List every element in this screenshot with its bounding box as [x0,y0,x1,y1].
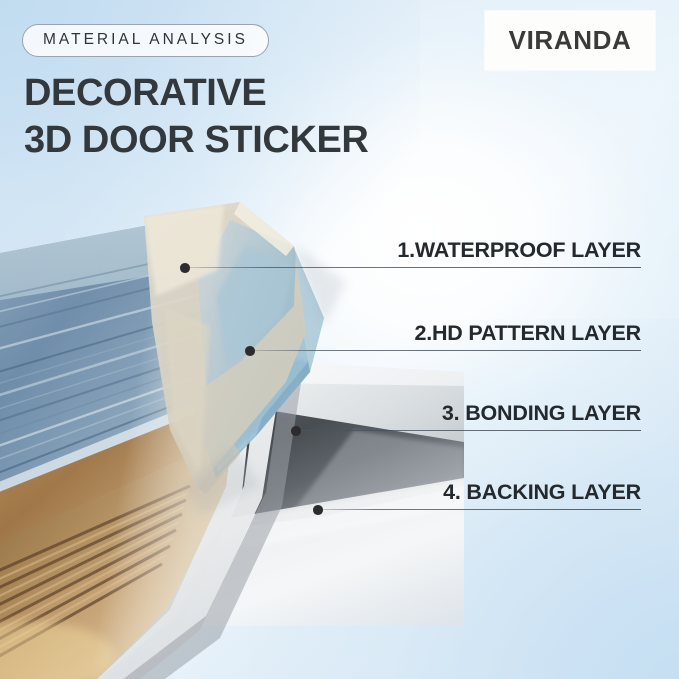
callout-leader-line [318,509,641,510]
callout-leader-line [185,267,641,268]
callout-dot [313,505,323,515]
callout-leader-line [250,350,641,351]
callout-dot [180,263,190,273]
callout-dot [291,426,301,436]
callout-dot [245,346,255,356]
callout-label: 4. BACKING LAYER [443,480,641,505]
brand-name: VIRANDA [509,25,632,56]
callout-label: 3. BONDING LAYER [442,401,641,426]
badge-material-analysis: MATERIAL ANALYSIS [22,24,269,57]
headline-line-2: 3D DOOR STICKER [24,117,368,164]
callout-label: 1.WATERPROOF LAYER [397,238,641,263]
page-title: DECORATIVE 3D DOOR STICKER [24,70,368,164]
callout-label: 2.HD PATTERN LAYER [414,321,641,346]
infographic-canvas: MATERIAL ANALYSIS DECORATIVE 3D DOOR STI… [0,0,679,679]
sticker-layers-illustration [0,186,464,679]
callout-leader-line [296,430,641,431]
headline-line-1: DECORATIVE [24,70,368,117]
brand-logo: VIRANDA [485,11,655,70]
